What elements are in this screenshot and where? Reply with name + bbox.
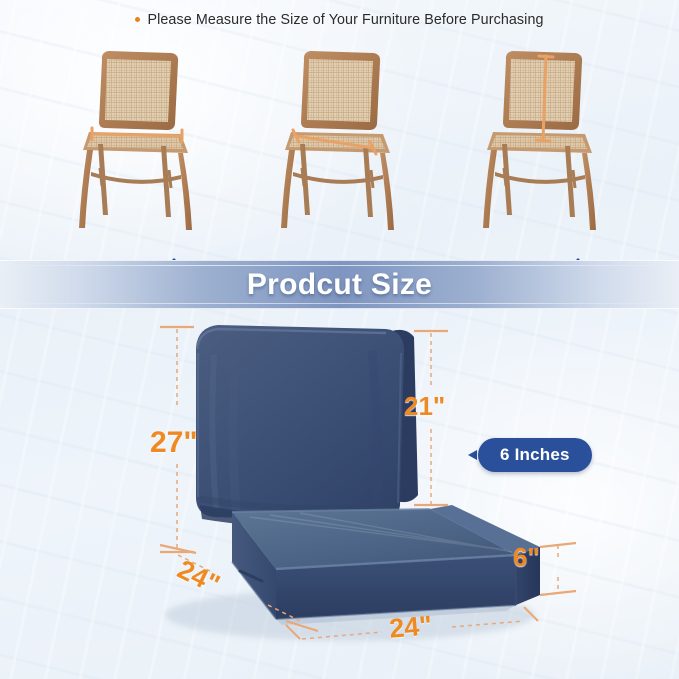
chair-diagram-row: Width [0, 40, 679, 255]
measure-note: Please Measure the Size of Your Furnitur… [0, 12, 679, 28]
chair-width: Width [37, 40, 237, 255]
chair-illustration [59, 40, 215, 240]
chair-depth: Depth [239, 40, 439, 255]
chair-illustration [261, 40, 417, 240]
section-banner: Prodcut Size [0, 260, 679, 309]
thickness-callout[interactable]: 6 Inches [478, 438, 592, 472]
chair-illustration [463, 40, 619, 240]
callout-pointer-icon [468, 450, 477, 460]
dimension-label-thickness: 6" [513, 542, 540, 573]
product-size-diagram: 27" 21" 24" 24" 6" 6 Inches [0, 309, 679, 679]
chair-height: Height [441, 40, 641, 255]
dimension-label-width: 24" [388, 610, 433, 645]
dimension-label-back-height: 27" [150, 426, 198, 460]
orange-dot-icon [135, 17, 140, 22]
infographic-page: Please Measure the Size of Your Furnitur… [0, 0, 679, 679]
measure-note-text: Please Measure the Size of Your Furnitur… [147, 12, 543, 28]
cushion-illustration [0, 309, 679, 679]
dimension-label-back-cushion: 21" [404, 391, 445, 422]
banner-title: Prodcut Size [247, 268, 432, 302]
